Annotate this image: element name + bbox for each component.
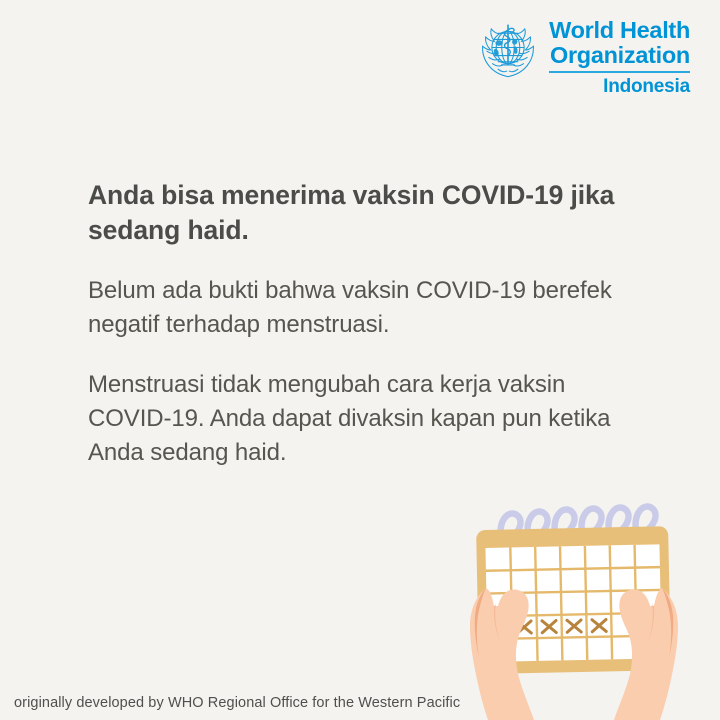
who-emblem-icon [477,19,539,81]
body-paragraph-2: Menstruasi tidak mengubah cara kerja vak… [88,368,654,470]
infographic-card: World Health Organization Indonesia Anda… [0,0,720,720]
who-logo-country: Indonesia [603,76,690,98]
page-title: Anda bisa menerima vaksin COVID-19 jika … [88,178,654,248]
who-logo-line2: Organization [550,43,690,68]
message-body: Anda bisa menerima vaksin COVID-19 jika … [88,178,660,470]
who-wordmark: World Health Organization Indonesia [549,18,690,98]
who-logo-line1: World Health [549,18,690,43]
logo-divider [549,71,690,73]
who-logo: World Health Organization Indonesia [477,18,690,98]
footer-credit: originally developed by WHO Regional Off… [14,694,460,712]
hands-holding-calendar-illustration [430,480,720,720]
body-paragraph-1: Belum ada bukti bahwa vaksin COVID-19 be… [88,274,654,342]
